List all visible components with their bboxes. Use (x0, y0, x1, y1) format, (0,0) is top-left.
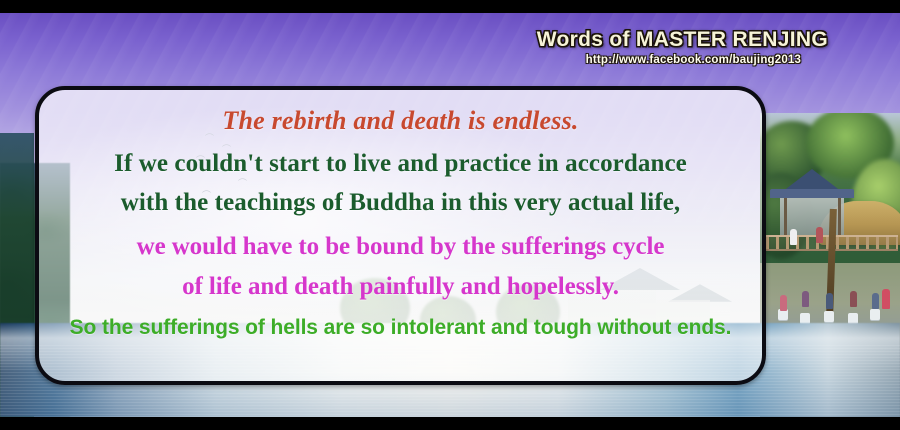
quote-line-2: If we couldn't start to live and practic… (114, 150, 687, 178)
quote-line-3: with the teachings of Buddha in this ver… (121, 189, 681, 217)
brand-url: http://www.facebook.com/baujing2013 (537, 54, 850, 66)
person (816, 227, 823, 243)
pavilion-pillar (838, 198, 841, 236)
quote-line-6: So the sufferings of hells are so intole… (70, 316, 732, 340)
person (790, 229, 797, 245)
person (872, 293, 879, 309)
person (826, 293, 833, 309)
person (802, 291, 809, 307)
pavilion-eave (770, 189, 854, 198)
quote-line-5: of life and death painfully and hopeless… (182, 273, 619, 301)
quote-line-1: The rebirth and death is endless. (222, 106, 578, 136)
person (850, 291, 857, 307)
person (882, 289, 890, 309)
brand-header: Words of MASTER RENJING http://www.faceb… (537, 28, 828, 66)
pavilion-pillar (784, 198, 787, 236)
person (780, 295, 787, 311)
chair (824, 311, 834, 322)
letterbox-bar-top (0, 0, 900, 13)
quote-panel: The rebirth and death is endless. If we … (35, 86, 766, 385)
quote-line-4: we would have to be bound by the sufferi… (137, 233, 665, 261)
brand-title: Words of MASTER RENJING (537, 28, 828, 52)
image-canvas: ︵ ︵ ︵ ︵ ︵ ︵ Words of MASTER RENJING http… (0, 0, 900, 430)
chair (870, 309, 880, 320)
letterbox-bar-bottom (0, 417, 900, 430)
